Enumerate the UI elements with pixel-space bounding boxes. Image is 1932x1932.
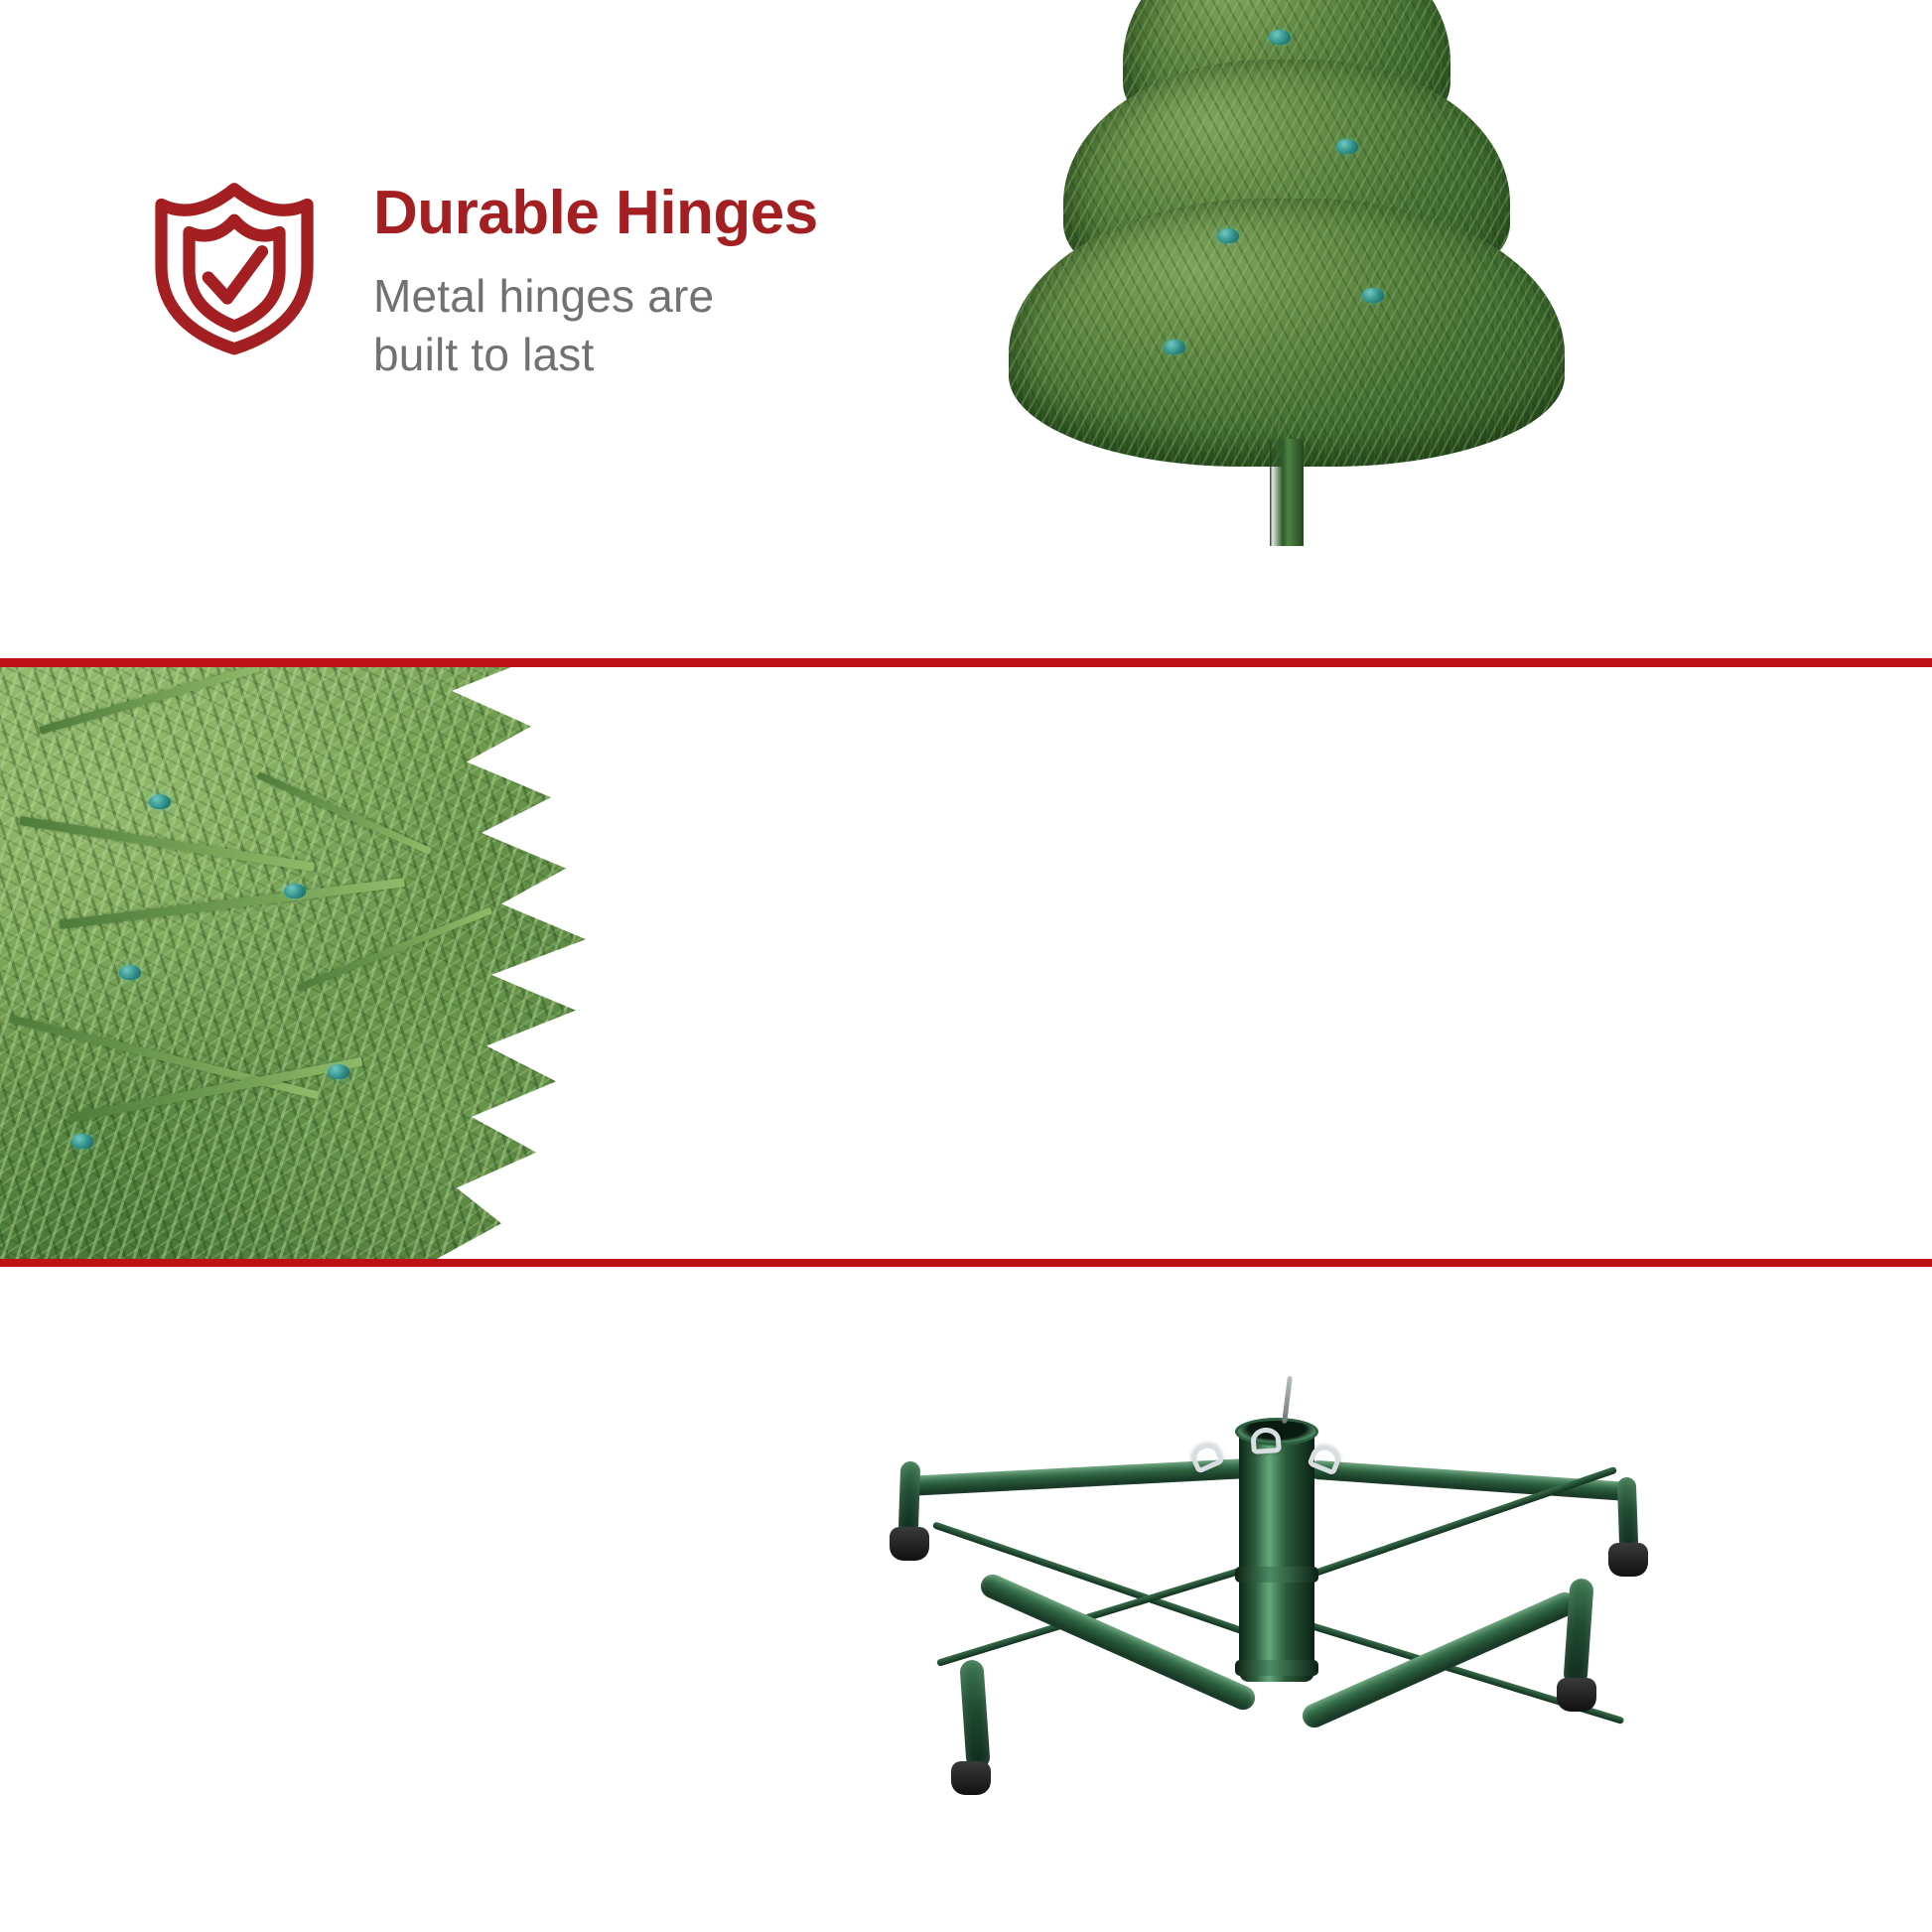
string-light-bulb xyxy=(1269,30,1291,45)
stand-leg-front-left-drop xyxy=(959,1659,991,1769)
stand-leg-front-left xyxy=(977,1571,1259,1714)
string-light-bulb xyxy=(149,794,171,809)
stand-collar-mid xyxy=(1235,1567,1318,1583)
string-light-bulb xyxy=(1217,228,1239,243)
stand-foot-front-right xyxy=(1557,1678,1596,1712)
stand-foot-back-right xyxy=(1608,1543,1648,1577)
feature-subtitle-line: built to last xyxy=(373,326,714,384)
stand-foot-back-left xyxy=(890,1527,929,1561)
stand-foot-front-left xyxy=(951,1761,991,1795)
artificial-christmas-tree-photo xyxy=(939,0,1634,546)
tree-foliage xyxy=(1009,0,1565,457)
feature-section-pvc-branches: PVC Branches Flame-retardant and easy to… xyxy=(0,667,1932,1259)
stand-leg-back-right-drop xyxy=(1617,1477,1639,1552)
string-light-bulb xyxy=(1164,340,1185,354)
feature-text-durable-hinges: Durable Hinges Metal hinges are built to… xyxy=(373,177,818,384)
feature-subtitle-line: Metal hinges are xyxy=(373,267,714,326)
tree-tier-bottom xyxy=(1009,199,1565,467)
feature-section-durable-hinges: Durable Hinges Metal hinges are built to… xyxy=(0,0,1932,663)
metal-tree-stand-photo xyxy=(842,1332,1696,1849)
pvc-branch-closeup-photo xyxy=(0,667,685,1259)
feature-section-sturdy-base: Sturdy Base A reliable stand for your tr… xyxy=(0,1267,1932,1932)
stand-center-column xyxy=(1239,1426,1314,1682)
feature-block-durable-hinges: Durable Hinges Metal hinges are built to… xyxy=(147,177,818,384)
feature-subtitle: Metal hinges are built to last xyxy=(373,267,714,384)
string-light-bulb xyxy=(71,1134,93,1149)
section-divider-top xyxy=(0,658,1932,667)
string-light-bulb xyxy=(328,1064,349,1079)
stand-leg-back-left-drop xyxy=(898,1461,921,1536)
stand-center-pin xyxy=(1282,1376,1293,1424)
shield-check-icon xyxy=(147,177,322,357)
string-light-bulb xyxy=(119,965,141,980)
stand-eye-bolt-back xyxy=(1250,1427,1282,1454)
feature-title: Durable Hinges xyxy=(373,181,818,245)
stand-collar-bottom xyxy=(1235,1660,1318,1676)
string-light-bulb xyxy=(1362,288,1384,303)
tree-center-pole xyxy=(1270,439,1304,546)
stand-leg-front-right xyxy=(1299,1588,1581,1731)
string-light-bulb xyxy=(284,884,306,898)
string-light-bulb xyxy=(1336,139,1358,154)
product-feature-infographic: Durable Hinges Metal hinges are built to… xyxy=(0,0,1932,1932)
